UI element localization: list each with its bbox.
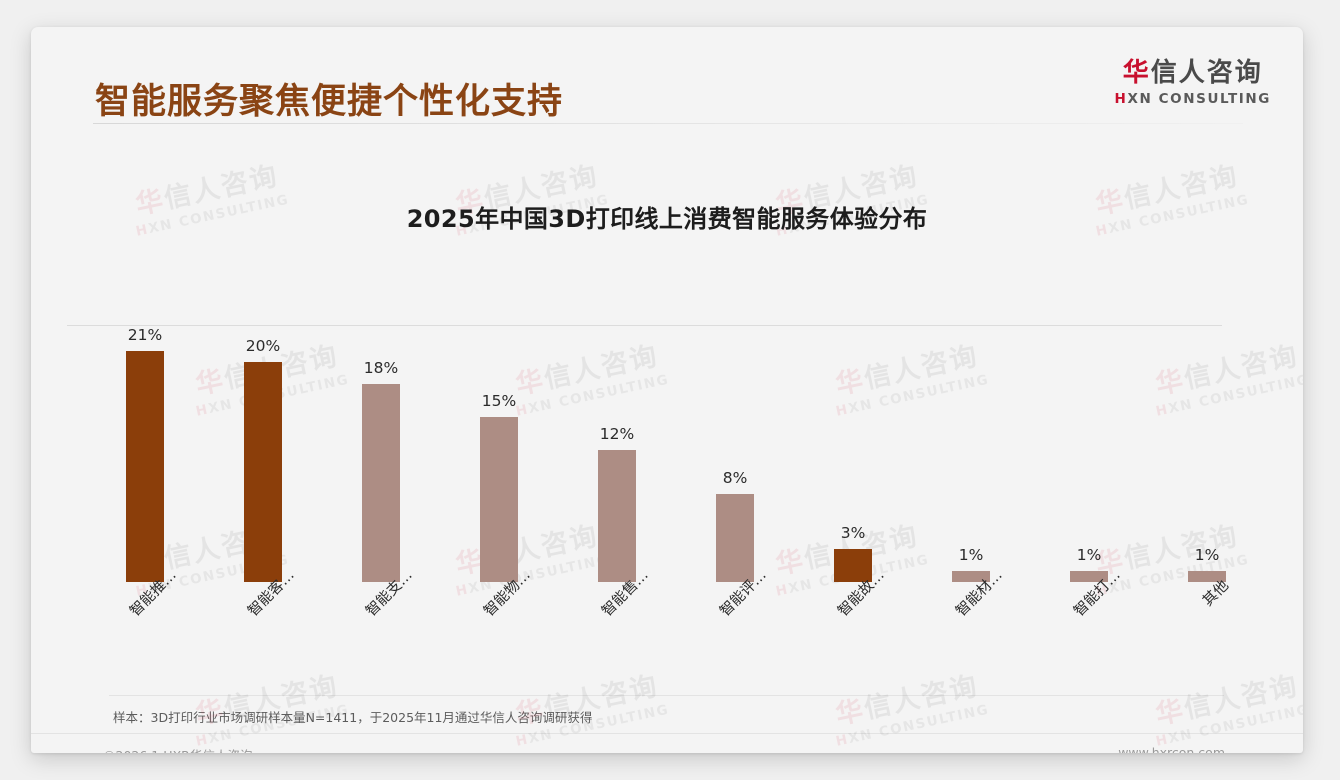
- logo-cn-rest: 信人咨询: [1151, 58, 1263, 88]
- footer-divider: [31, 733, 1303, 734]
- category-label: 智能评…: [676, 585, 794, 606]
- watermark: 华信人咨询HXN CONSULTING: [1148, 671, 1303, 749]
- bar-value-label: 21%: [128, 326, 162, 344]
- category-label: 智能售…: [558, 585, 676, 606]
- bar-slot: 21%: [86, 282, 204, 582]
- screenshot-stage: 华信人咨询HXN CONSULTING华信人咨询HXN CONSULTING华信…: [0, 0, 1340, 780]
- watermark-chinese-text: 华信人咨询: [1148, 671, 1303, 730]
- bar-slot: 8%: [676, 282, 794, 582]
- watermark: 华信人咨询HXN CONSULTING: [828, 671, 991, 749]
- logo-en-rest: XN CONSULTING: [1127, 91, 1271, 107]
- category-label: 智能打…: [1030, 585, 1148, 606]
- bar-value-label: 3%: [841, 524, 866, 542]
- category-label: 智能故…: [794, 585, 912, 606]
- category-label: 智能支…: [322, 585, 440, 606]
- chart-bar[interactable]: [716, 494, 754, 582]
- bar-slot: 20%: [204, 282, 322, 582]
- category-label: 智能客…: [204, 585, 322, 606]
- bar-slot: 15%: [440, 282, 558, 582]
- slide-header: 智能服务聚焦便捷个性化支持 华信人咨询 HXN CONSULTING: [31, 27, 1303, 117]
- bar-slot: 1%: [1148, 282, 1266, 582]
- footnote-divider: [109, 695, 1224, 696]
- chart-bar[interactable]: [244, 362, 282, 582]
- chart-title: 2025年中国3D打印线上消费智能服务体验分布: [31, 199, 1303, 234]
- category-label: 其他: [1148, 585, 1266, 606]
- bar-value-label: 1%: [1195, 546, 1220, 564]
- bar-value-label: 1%: [1077, 546, 1102, 564]
- bar-slot: 1%: [1030, 282, 1148, 582]
- bar-value-label: 12%: [600, 425, 634, 443]
- chart-footnote: 样本：3D打印行业市场调研样本量N=1411，于2025年11月通过华信人咨询调…: [113, 707, 592, 726]
- logo-english-text: HXN CONSULTING: [1115, 93, 1271, 107]
- company-logo: 华信人咨询 HXN CONSULTING: [1115, 60, 1271, 107]
- bar-value-label: 8%: [723, 469, 748, 487]
- bar-chart-plot-area: 21%20%18%15%12%8%3%1%1%1%: [81, 282, 1271, 582]
- chart-bar[interactable]: [126, 351, 164, 582]
- bar-slot: 12%: [558, 282, 676, 582]
- category-label: 智能推…: [86, 585, 204, 606]
- category-label: 智能物…: [440, 585, 558, 606]
- chart-baseline-axis: [67, 325, 1222, 326]
- bar-slot: 3%: [794, 282, 912, 582]
- watermark-chinese-text: 华信人咨询: [828, 671, 987, 730]
- presentation-slide: 华信人咨询HXN CONSULTING华信人咨询HXN CONSULTING华信…: [31, 27, 1303, 753]
- logo-chinese-text: 华信人咨询: [1115, 60, 1271, 86]
- chart-bar[interactable]: [598, 450, 636, 582]
- chart-category-axis-labels: 智能推…智能客…智能支…智能物…智能售…智能评…智能故…智能材…智能打…其他: [81, 585, 1271, 675]
- footer-copyright: ©2026.1 HXR华信人咨询: [103, 745, 252, 753]
- chart-bar[interactable]: [480, 417, 518, 582]
- bar-value-label: 20%: [246, 337, 280, 355]
- logo-en-highlight: H: [1115, 91, 1128, 107]
- watermark-english-text: HXN CONSULTING: [835, 704, 991, 750]
- chart-bar[interactable]: [362, 384, 400, 582]
- logo-cn-highlight: 华: [1123, 58, 1151, 88]
- footer-website: www.hxrcon.com: [1118, 745, 1225, 753]
- bar-value-label: 18%: [364, 359, 398, 377]
- page-title: 智能服务聚焦便捷个性化支持: [95, 73, 563, 124]
- watermark-english-text: HXN CONSULTING: [1155, 704, 1303, 750]
- bar-value-label: 15%: [482, 392, 516, 410]
- bar-slot: 18%: [322, 282, 440, 582]
- header-divider: [93, 123, 1243, 124]
- bar-slot: 1%: [912, 282, 1030, 582]
- category-label: 智能材…: [912, 585, 1030, 606]
- bar-value-label: 1%: [959, 546, 984, 564]
